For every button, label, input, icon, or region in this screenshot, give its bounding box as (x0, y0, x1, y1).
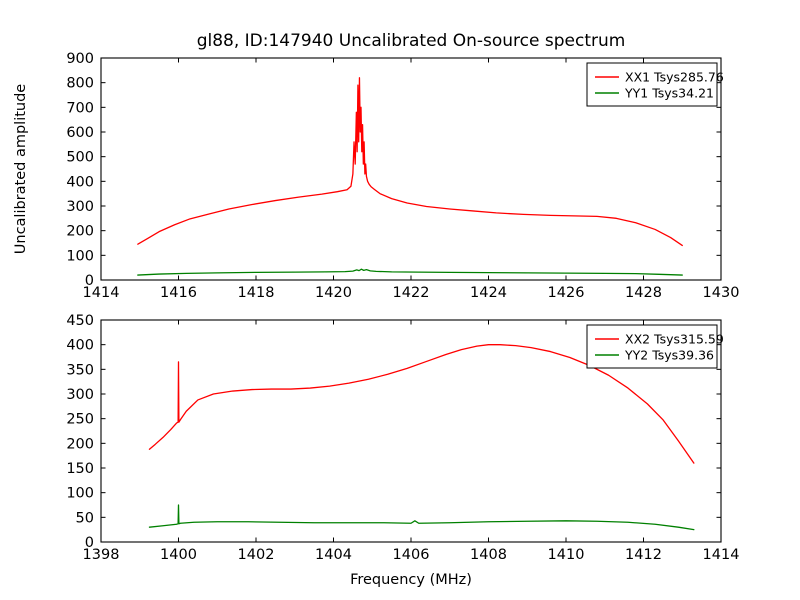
legend-top: XX1 Tsys285.76YY1 Tsys34.21 (587, 63, 724, 106)
yticklabel-top-9: 900 (66, 51, 94, 67)
xticklabel-top-2: 1418 (238, 285, 275, 301)
legend-label-top-0: XX1 Tsys285.76 (625, 70, 724, 85)
yticklabel-top-1: 100 (66, 248, 94, 264)
spectrum-plot-canvas: 1414141614181420142214241426142814300100… (0, 0, 800, 600)
yticklabel-top-4: 400 (66, 174, 94, 190)
xticklabel-top-6: 1426 (548, 285, 585, 301)
axes-top: 1414141614181420142214241426142814300100… (13, 31, 739, 301)
yticklabel-top-5: 500 (66, 150, 94, 166)
legend-label-bottom-0: XX2 Tsys315.59 (625, 332, 724, 347)
xlabel-bottom: Frequency (MHz) (350, 572, 472, 588)
yticklabel-bottom-9: 450 (66, 313, 94, 329)
yticklabel-bottom-8: 400 (66, 338, 94, 354)
xticklabel-bottom-3: 1404 (315, 547, 352, 563)
xticklabel-top-4: 1422 (393, 285, 430, 301)
yticklabel-top-8: 800 (66, 76, 94, 92)
yticklabel-bottom-6: 300 (66, 387, 94, 403)
xticklabel-bottom-4: 1406 (393, 547, 430, 563)
legend-label-bottom-1: YY2 Tsys39.36 (624, 348, 714, 363)
matplotlib-figure: 1414141614181420142214241426142814300100… (0, 0, 800, 600)
xticklabel-top-3: 1420 (315, 285, 352, 301)
figure-title: gl88, ID:147940 Uncalibrated On-source s… (197, 31, 626, 51)
xticklabel-bottom-1: 1400 (160, 547, 197, 563)
xticklabel-bottom-2: 1402 (238, 547, 275, 563)
yticklabel-top-0: 0 (85, 273, 94, 289)
xticklabel-top-7: 1428 (625, 285, 662, 301)
xticklabel-bottom-8: 1414 (703, 547, 740, 563)
xticklabel-top-8: 1430 (703, 285, 740, 301)
yticklabel-bottom-4: 200 (66, 436, 94, 452)
yticklabel-bottom-2: 100 (66, 486, 94, 502)
yticklabel-top-7: 700 (66, 100, 94, 116)
yticklabel-top-3: 300 (66, 199, 94, 215)
yticklabel-top-2: 200 (66, 224, 94, 240)
xticklabel-bottom-7: 1412 (625, 547, 662, 563)
axes-bottom: 1398140014021404140614081410141214140501… (66, 313, 739, 588)
legend-label-top-1: YY1 Tsys34.21 (624, 86, 714, 101)
yticklabel-bottom-3: 150 (66, 461, 94, 477)
yticklabel-bottom-1: 50 (76, 510, 94, 526)
ylabel-top: Uncalibrated amplitude (13, 84, 29, 255)
yticklabel-bottom-0: 0 (85, 535, 94, 551)
xticklabel-bottom-6: 1410 (548, 547, 585, 563)
legend-bottom: XX2 Tsys315.59YY2 Tsys39.36 (587, 325, 724, 368)
yticklabel-bottom-5: 250 (66, 412, 94, 428)
xticklabel-top-5: 1424 (470, 285, 507, 301)
xticklabel-top-1: 1416 (160, 285, 197, 301)
yticklabel-bottom-7: 350 (66, 362, 94, 378)
xticklabel-bottom-5: 1408 (470, 547, 507, 563)
yticklabel-top-6: 600 (66, 125, 94, 141)
